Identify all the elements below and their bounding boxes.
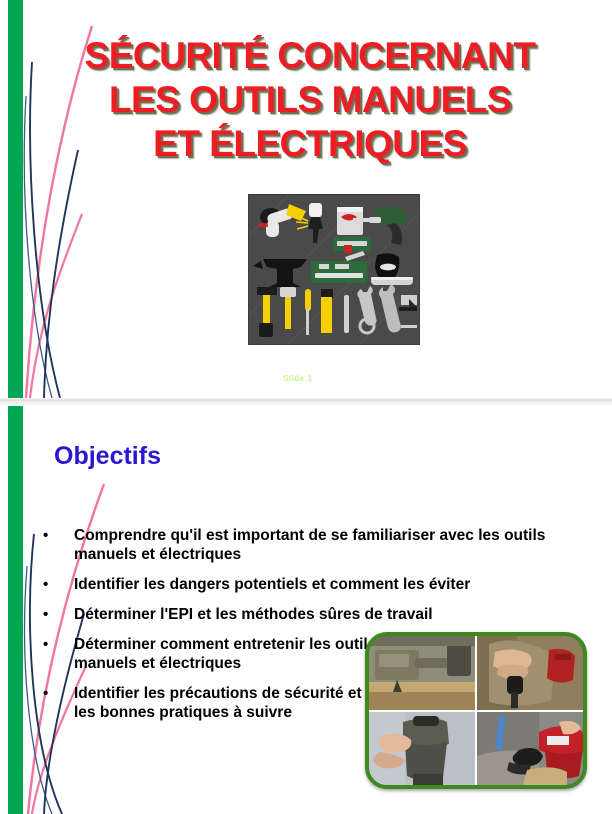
slide-1: SÉCURITÉ CONCERNANT LES OUTILS MANUELS E… [0,0,612,398]
list-item: • Comprendre qu'il est important de se f… [40,526,580,564]
list-item: • Déterminer comment entretenir les outi… [40,635,404,673]
icon-bench-tool [333,237,371,253]
photo-nailer [369,712,476,785]
bullet-marker: • [43,684,48,703]
accent-green-bar-2 [8,406,23,814]
bullet-marker: • [43,635,48,654]
bullet-marker: • [43,605,48,624]
icon-punch [344,295,349,333]
page-title: SÉCURITÉ CONCERNANT LES OUTILS MANUELS E… [60,34,560,166]
list-item-text: Déterminer comment entretenir les outils… [74,636,376,672]
tool-photos-collage [365,632,587,789]
photo-hammer-drill [477,712,583,785]
list-item-text: Comprendre qu'il est important de se fam… [74,527,545,563]
tools-collage-image [248,194,420,345]
list-item: • Déterminer l'EPI et les méthodes sûres… [40,605,580,624]
list-item: • Identifier les précautions de sécurité… [40,684,384,722]
section-heading: Objectifs [54,442,161,471]
photo-jigsaw [369,636,476,711]
accent-green-bar [8,0,23,398]
list-item-text: Identifier les dangers potentiels et com… [74,576,470,593]
slide-divider [0,398,612,406]
bullet-marker: • [43,526,48,545]
icon-chisel [321,289,333,333]
slide-number-tag: Slide 1 [283,374,312,383]
list-item: • Identifier les dangers potentiels et c… [40,575,580,594]
bullet-marker: • [43,575,48,594]
handout-page: SÉCURITÉ CONCERNANT LES OUTILS MANUELS E… [0,0,612,814]
list-item-text: Déterminer l'EPI et les méthodes sûres d… [74,606,433,623]
icon-metal-pipe [371,277,413,285]
photo-hand-drill [477,636,583,711]
list-item-text: Identifier les précautions de sécurité e… [74,685,362,721]
